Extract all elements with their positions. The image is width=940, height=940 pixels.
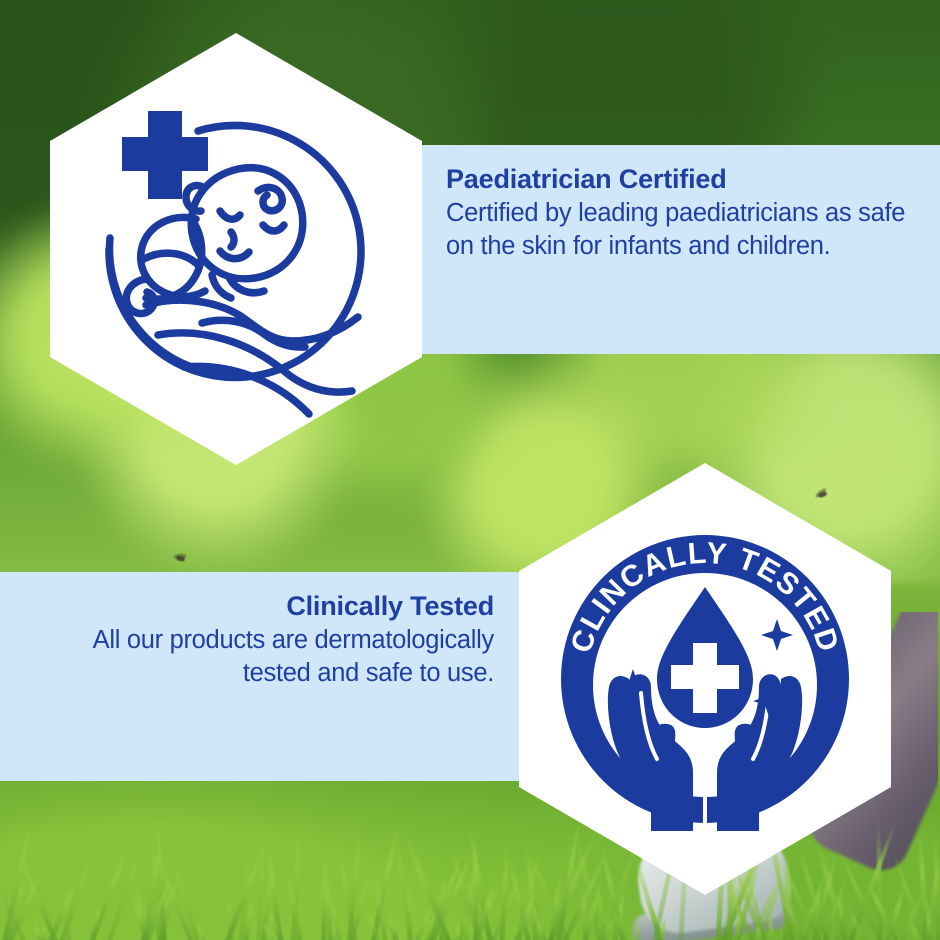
card-heading: Clinically Tested <box>26 590 494 622</box>
clinically-tested-badge-icon: CLINCALLY TESTED <box>555 529 855 829</box>
infographic-canvas: Paediatrician Certified Certified by lea… <box>0 0 940 940</box>
card-heading: Paediatrician Certified <box>446 163 914 195</box>
card-paediatrician-certified: Paediatrician Certified Certified by lea… <box>420 145 940 354</box>
card-clinically-tested: Clinically Tested All our products are d… <box>0 572 520 781</box>
card-body: Certified by leading paediatricians as s… <box>446 197 914 261</box>
baby-in-hand-icon <box>86 99 386 399</box>
card-body: All our products are dermatologically te… <box>26 624 494 688</box>
